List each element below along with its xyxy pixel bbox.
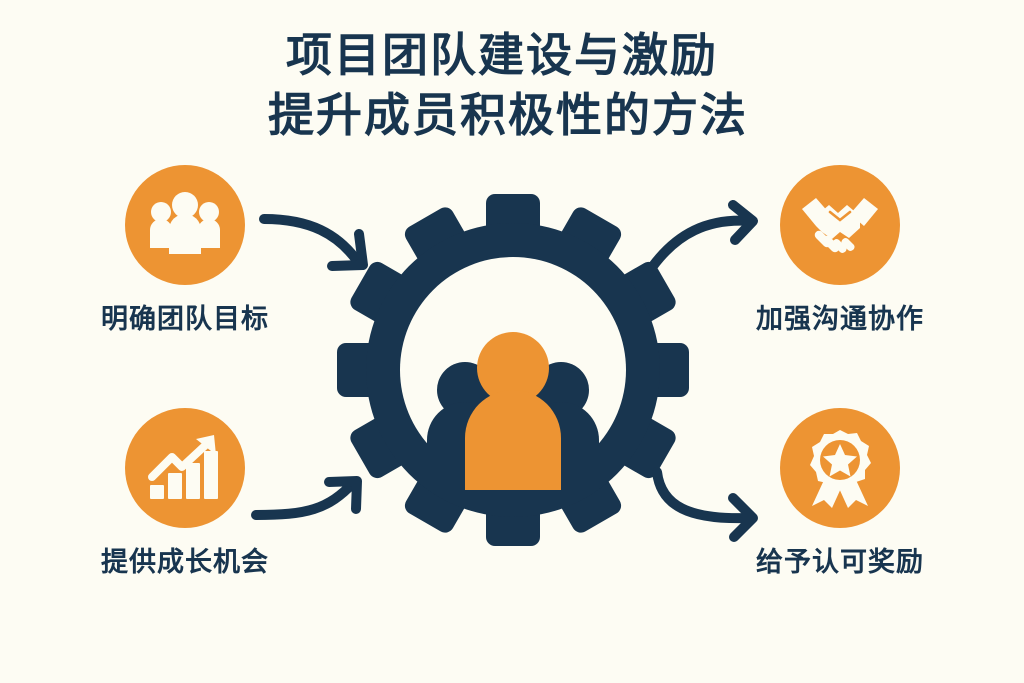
handshake-icon — [800, 192, 880, 258]
arrow-goal-to-center — [258, 206, 383, 291]
team-group-icon — [147, 190, 223, 260]
page-title: 项目团队建设与激励 提升成员积极性的方法 — [0, 26, 1024, 146]
node-growth-circle[interactable] — [125, 408, 245, 528]
award-medal-icon — [804, 428, 876, 508]
title-line-2: 提升成员积极性的方法 — [0, 86, 1024, 146]
node-reward-circle[interactable] — [780, 408, 900, 528]
curved-arrow-down-right-icon — [258, 206, 383, 286]
center-gear-team-icon — [333, 190, 693, 550]
node-communication-circle[interactable] — [780, 165, 900, 285]
curved-arrow-down-right-icon — [645, 458, 770, 543]
arrow-growth-to-center — [250, 452, 375, 542]
title-line-1: 项目团队建设与激励 — [0, 26, 1024, 86]
arrow-center-to-communication — [645, 198, 770, 288]
node-communication-label: 加强沟通协作 — [715, 297, 965, 336]
gear-team-icon — [333, 190, 693, 550]
node-growth-label: 提供成长机会 — [60, 540, 310, 579]
node-goal-label: 明确团队目标 — [60, 297, 310, 336]
curved-arrow-up-right-icon — [250, 452, 375, 537]
node-goal-circle[interactable] — [125, 165, 245, 285]
infographic-canvas: 项目团队建设与激励 提升成员积极性的方法 — [0, 0, 1024, 683]
arrow-center-to-reward — [645, 458, 770, 548]
curved-arrow-up-right-icon — [645, 198, 770, 283]
growth-chart-icon — [148, 433, 222, 503]
